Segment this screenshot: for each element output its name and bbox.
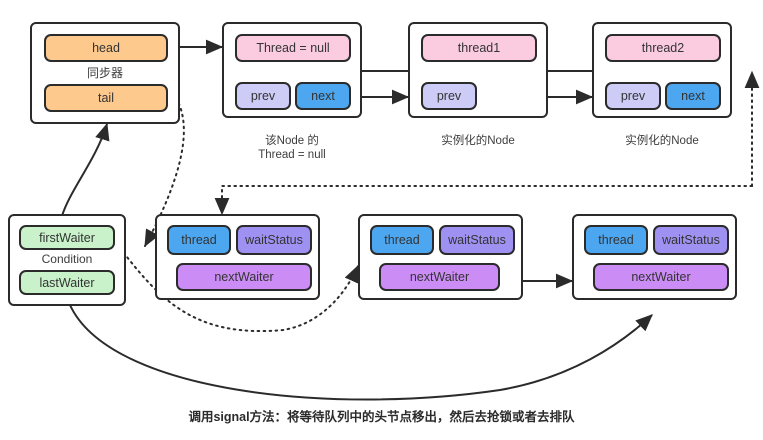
waiter-node-3: thread waitStatus nextWaiter <box>572 214 737 300</box>
sync-tail-cell[interactable]: tail <box>44 84 168 112</box>
waiter-node-1: thread waitStatus nextWaiter <box>155 214 320 300</box>
waiter-node-2-thread-cell[interactable]: thread <box>370 225 434 255</box>
sync-tail-label: tail <box>98 91 114 105</box>
condition-last-waiter-label: lastWaiter <box>39 276 94 290</box>
aqs-node-3: thread2 prev next <box>592 22 732 118</box>
diagram-bottom-note: 调用signal方法：将等待队列中的头节点移出，然后去抢锁或者去排队 <box>0 406 763 425</box>
aqs-node-2-prev-cell[interactable]: prev <box>421 82 477 110</box>
aqs-node-3-next-cell[interactable]: next <box>665 82 721 110</box>
waiter-node-1-nextwaiter-label: nextWaiter <box>214 270 273 284</box>
aqs-node-3-caption: 实例化的Node <box>592 120 732 148</box>
condition-last-waiter-cell[interactable]: lastWaiter <box>19 270 115 295</box>
condition-box: firstWaiter Condition lastWaiter <box>8 214 126 306</box>
sync-name-label: 同步器 <box>32 64 178 81</box>
aqs-node-1-next-label: next <box>311 89 335 103</box>
sync-head-label: head <box>92 41 120 55</box>
waiter-node-1-thread-label: thread <box>181 233 216 247</box>
waiter-node-3-waitstatus-label: waitStatus <box>662 233 720 247</box>
diagram-canvas: head 同步器 tail Thread = null prev next 该N… <box>0 0 763 440</box>
arrow-lastwaiter-to-waiter3 <box>70 305 652 400</box>
waiter-node-2-nextwaiter-label: nextWaiter <box>410 270 469 284</box>
aqs-node-1-thread-cell[interactable]: Thread = null <box>235 34 351 62</box>
waiter-node-2-waitstatus-label: waitStatus <box>448 233 506 247</box>
aqs-node-1-caption: 该Node 的 Thread = null <box>222 120 362 162</box>
aqs-node-2-caption: 实例化的Node <box>408 120 548 148</box>
aqs-node-2-thread-cell[interactable]: thread1 <box>421 34 537 62</box>
arrow-condition-to-sync <box>62 124 107 216</box>
condition-name-label: Condition <box>10 252 124 266</box>
waiter-node-2-waitstatus-cell[interactable]: waitStatus <box>439 225 515 255</box>
waiter-node-3-nextwaiter-cell[interactable]: nextWaiter <box>593 263 729 291</box>
dotted-rail-horizontal <box>222 186 752 214</box>
waiter-node-3-waitstatus-cell[interactable]: waitStatus <box>653 225 729 255</box>
aqs-node-1-next-cell[interactable]: next <box>295 82 351 110</box>
aqs-node-2-prev-label: prev <box>437 89 461 103</box>
waiter-node-3-thread-cell[interactable]: thread <box>584 225 648 255</box>
sync-head-cell[interactable]: head <box>44 34 168 62</box>
aqs-node-1-prev-cell[interactable]: prev <box>235 82 291 110</box>
synchronizer-box: head 同步器 tail <box>30 22 180 124</box>
aqs-node-1: Thread = null prev next <box>222 22 362 118</box>
waiter-node-1-thread-cell[interactable]: thread <box>167 225 231 255</box>
aqs-node-3-prev-cell[interactable]: prev <box>605 82 661 110</box>
waiter-node-3-thread-label: thread <box>598 233 633 247</box>
aqs-node-1-thread-label: Thread = null <box>256 41 329 55</box>
condition-first-waiter-cell[interactable]: firstWaiter <box>19 225 115 250</box>
aqs-node-2-thread-label: thread1 <box>458 41 500 55</box>
aqs-node-3-next-label: next <box>681 89 705 103</box>
waiter-node-2-nextwaiter-cell[interactable]: nextWaiter <box>379 263 500 291</box>
waiter-node-2-thread-label: thread <box>384 233 419 247</box>
aqs-node-3-thread-label: thread2 <box>642 41 684 55</box>
waiter-node-2: thread waitStatus nextWaiter <box>358 214 523 300</box>
aqs-node-3-thread-cell[interactable]: thread2 <box>605 34 721 62</box>
aqs-node-3-prev-label: prev <box>621 89 645 103</box>
condition-first-waiter-label: firstWaiter <box>39 231 95 245</box>
aqs-node-1-prev-label: prev <box>251 89 275 103</box>
aqs-node-2: thread1 prev <box>408 22 548 118</box>
waiter-node-1-waitstatus-label: waitStatus <box>245 233 303 247</box>
waiter-node-3-nextwaiter-label: nextWaiter <box>631 270 690 284</box>
waiter-node-1-waitstatus-cell[interactable]: waitStatus <box>236 225 312 255</box>
waiter-node-1-nextwaiter-cell[interactable]: nextWaiter <box>176 263 312 291</box>
